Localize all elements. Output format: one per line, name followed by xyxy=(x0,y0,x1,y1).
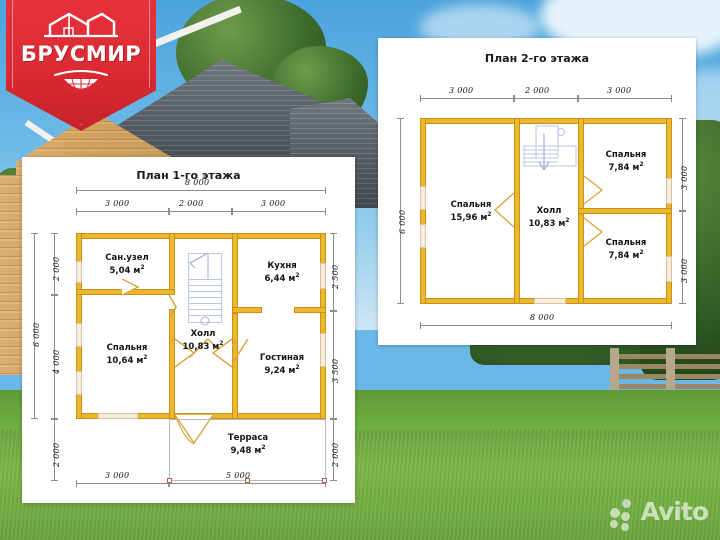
room-name: Терраса xyxy=(228,433,268,443)
floor1-plan-panel: План 1-го этажа 8 000 3 000 2 000 3 000 … xyxy=(22,157,355,503)
room-name: Спальня xyxy=(606,238,647,248)
room-area: 10,83 м2 xyxy=(165,340,241,352)
staircase-icon xyxy=(524,126,576,178)
room-name: Спальня xyxy=(606,150,647,160)
room-area: 7,84 м2 xyxy=(584,249,668,261)
floor2-room-hall: Холл 10,83 м2 xyxy=(511,206,587,229)
floor1-room-bedroom: Спальня 10,64 м2 xyxy=(84,343,170,366)
floor1-staircase xyxy=(188,253,222,323)
room-area: 9,48 м2 xyxy=(208,444,288,456)
stair-pivot-icon xyxy=(199,315,213,329)
room-area: 10,83 м2 xyxy=(511,217,587,229)
floor1-room-bathroom: Сан.узел 5,04 м2 xyxy=(84,253,170,276)
floor2-plan-panel: План 2-го этажа 3 000 2 000 3 000 6 000 … xyxy=(378,38,696,345)
room-name: Гостиная xyxy=(260,353,304,363)
globe-grid-icon xyxy=(52,70,110,98)
floor1-room-hall: Холл 10,83 м2 xyxy=(165,329,241,352)
floor2-room-bedroom-bottom: Спальня 7,84 м2 xyxy=(584,238,668,261)
avito-watermark: Avito xyxy=(610,497,708,526)
house-outline-icon xyxy=(44,12,118,38)
floor2-staircase xyxy=(524,126,576,178)
room-name: Спальня xyxy=(107,343,148,353)
room-area: 5,04 м2 xyxy=(84,264,170,276)
logo-wordmark: БРУСМИР xyxy=(6,42,156,66)
avito-wordmark: Avito xyxy=(641,497,708,526)
avito-dots-icon xyxy=(610,499,636,525)
floor1-room-living: Гостиная 9,24 м2 xyxy=(241,353,323,376)
floor1-room-terrace: Терраса 9,48 м2 xyxy=(208,433,288,456)
room-name: Спальня xyxy=(451,200,492,210)
floor1-terrace-post xyxy=(322,478,327,483)
room-area: 6,44 м2 xyxy=(244,272,320,284)
floor2-room-bedroom-top: Спальня 7,84 м2 xyxy=(584,150,668,173)
floor2-hall-openings xyxy=(378,38,696,345)
room-area: 15,96 м2 xyxy=(428,211,514,223)
stair-direction-arrow-icon xyxy=(180,249,220,285)
floor1-terrace-post xyxy=(245,478,250,483)
room-name: Сан.узел xyxy=(105,253,149,263)
room-area: 9,24 м2 xyxy=(241,364,323,376)
room-name: Холл xyxy=(191,329,216,339)
floor2-room-bedroom-large: Спальня 15,96 м2 xyxy=(428,200,514,223)
floor1-room-kitchen: Кухня 6,44 м2 xyxy=(244,261,320,284)
room-name: Кухня xyxy=(267,261,296,271)
room-name: Холл xyxy=(537,206,562,216)
room-area: 7,84 м2 xyxy=(584,161,668,173)
room-area: 10,64 м2 xyxy=(84,354,170,366)
floor1-terrace-post xyxy=(167,478,172,483)
